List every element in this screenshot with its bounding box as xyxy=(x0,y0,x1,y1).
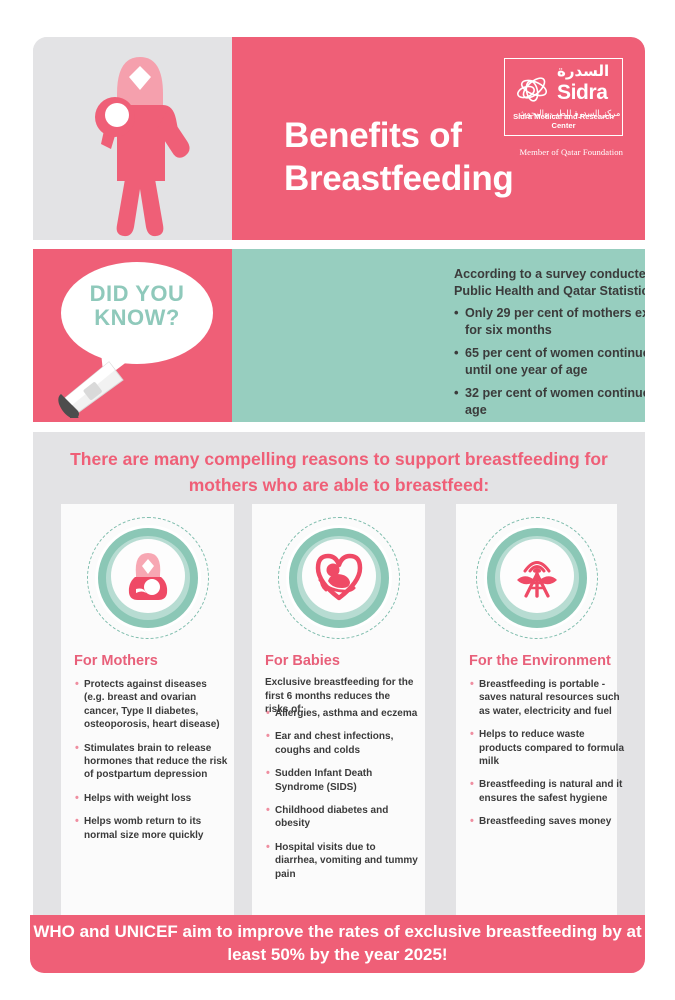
header-section: Benefits of Breastfeeding السدرة Sidra م… xyxy=(33,37,645,240)
environment-benefits-list: Breastfeeding is portable - saves natura… xyxy=(469,678,624,839)
did-you-know-section: DID YOU KNOW? According to a survey cond… xyxy=(33,249,645,422)
list-item: Helps to reduce waste products compared … xyxy=(469,728,624,768)
did-you-know-line-2: KNOW? xyxy=(61,306,213,330)
qatar-foundation-member-line: Member of Qatar Foundation xyxy=(519,147,623,157)
list-item: Hospital visits due to diarrhea, vomitin… xyxy=(265,841,420,881)
baby-in-heart-hand-icon xyxy=(312,550,366,602)
sidra-logo-wordmark: Sidra xyxy=(557,82,608,103)
mothers-badge xyxy=(87,517,209,639)
list-item: Stimulates brain to release hormones tha… xyxy=(74,742,229,782)
infographic-poster: Benefits of Breastfeeding السدرة Sidra م… xyxy=(0,0,675,1000)
babies-badge xyxy=(278,517,400,639)
footer-text: WHO and UNICEF aim to improve the rates … xyxy=(30,921,645,967)
environment-badge xyxy=(476,517,598,639)
survey-facts-list: Only 29 per cent of mothers exclusively … xyxy=(454,305,645,422)
header-illustration-panel xyxy=(33,37,232,240)
did-you-know-bubble-panel: DID YOU KNOW? xyxy=(33,249,232,422)
column-title-mothers: For Mothers xyxy=(74,653,158,669)
benefits-column-babies: For Babies Exclusive breastfeeding for t… xyxy=(252,504,425,915)
badge-inner-circle xyxy=(302,539,376,613)
did-you-know-line-1: DID YOU xyxy=(61,282,213,306)
sidra-flower-icon xyxy=(513,67,555,109)
badge-inner-circle xyxy=(111,539,185,613)
sidra-logo: السدرة Sidra مركز السدرة للطب والبحوث Si… xyxy=(504,58,623,136)
sidra-logo-subtitle: Sidra Medical and Research Center xyxy=(511,113,616,130)
babies-benefits-list: Allergies, asthma and eczema Ear and che… xyxy=(265,707,420,891)
list-item: 65 per cent of women continued breastfee… xyxy=(454,345,645,378)
mother-nursing-baby-icon xyxy=(122,549,174,603)
column-title-babies: For Babies xyxy=(265,653,340,669)
mother-and-baby-figure-icon xyxy=(77,49,197,239)
column-title-environment: For the Environment xyxy=(469,653,611,669)
list-item: Only 29 per cent of mothers exclusively … xyxy=(454,305,645,338)
mothers-benefits-list: Protects against diseases (e.g. breast a… xyxy=(74,678,229,852)
benefits-heading: There are many compelling reasons to sup… xyxy=(59,446,619,499)
footer-banner: WHO and UNICEF aim to improve the rates … xyxy=(30,915,645,973)
benefits-column-environment: For the Environment Breastfeeding is por… xyxy=(456,504,617,915)
did-you-know-label: DID YOU KNOW? xyxy=(61,282,213,330)
list-item: Breastfeeding is natural and it ensures … xyxy=(469,778,624,805)
survey-intro-text: According to a survey conducted in Qatar… xyxy=(454,266,645,301)
list-item: Breastfeeding saves money xyxy=(469,815,624,828)
list-item: 32 per cent of women continued breastfee… xyxy=(454,385,645,418)
list-item: Protects against diseases (e.g. breast a… xyxy=(74,678,229,732)
benefits-column-mothers: For Mothers Protects against diseases (e… xyxy=(61,504,234,915)
list-item: Ear and chest infections, coughs and col… xyxy=(265,730,420,757)
sidra-logo-arabic: السدرة xyxy=(557,64,609,79)
header-title-panel: Benefits of Breastfeeding السدرة Sidra م… xyxy=(232,37,645,240)
list-item: Helps womb return to its normal size mor… xyxy=(74,815,229,842)
list-item: Sudden Infant Death Syndrome (SIDS) xyxy=(265,767,420,794)
badge-inner-circle xyxy=(500,539,574,613)
list-item: Allergies, asthma and eczema xyxy=(265,707,420,720)
list-item: Breastfeeding is portable - saves natura… xyxy=(469,678,624,718)
list-item: Childhood diabetes and obesity xyxy=(265,804,420,831)
plant-sprout-signal-icon xyxy=(511,550,563,602)
benefits-section: There are many compelling reasons to sup… xyxy=(33,432,645,915)
did-you-know-facts-panel: According to a survey conducted in Qatar… xyxy=(232,249,645,422)
megaphone-icon xyxy=(57,354,135,418)
list-item: Helps with weight loss xyxy=(74,792,229,805)
